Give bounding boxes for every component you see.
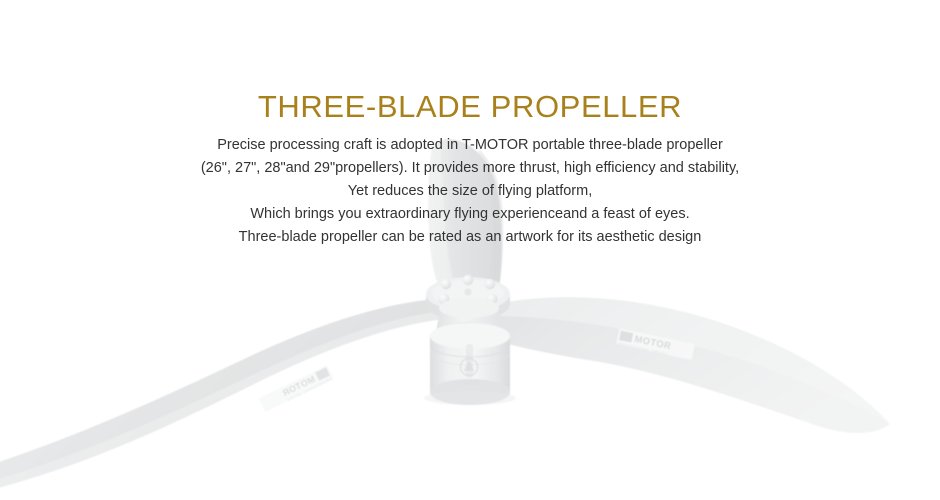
description-line-3: Yet reduces the size of flying platform, <box>0 180 940 203</box>
product-banner: MOTOR PROFESSIONAL DRIVES MOTOR PROFESSI… <box>0 0 940 500</box>
svg-text:MOTOR: MOTOR <box>281 374 317 399</box>
propeller-blade-left: MOTOR PROFESSIONAL DRIVES <box>0 298 455 492</box>
svg-text:PROFESSIONAL DRIVES: PROFESSIONAL DRIVES <box>618 342 668 356</box>
propeller-hub <box>426 275 510 321</box>
svg-text:MOTOR: MOTOR <box>633 334 672 352</box>
motor-can: T-MOTOR <box>430 323 510 405</box>
blade-right-brand-decal: MOTOR PROFESSIONAL DRIVES <box>616 328 695 361</box>
description-paragraph: Precise processing craft is adopted in T… <box>0 134 940 249</box>
description-line-2: (26", 27", 28"and 29"propellers). It pro… <box>0 157 940 180</box>
blade-left-brand-decal: MOTOR PROFESSIONAL DRIVES <box>259 365 335 413</box>
page-title: THREE-BLADE PROPELLER <box>0 88 940 126</box>
hub-bolt-group <box>439 275 498 310</box>
svg-text:T-MOTOR: T-MOTOR <box>458 380 481 385</box>
description-line-4: Which brings you extraordinary flying ex… <box>0 203 940 226</box>
svg-text:PROFESSIONAL DRIVES: PROFESSIONAL DRIVES <box>286 377 332 402</box>
motor-collar <box>436 298 502 342</box>
description-line-5: Three-blade propeller can be rated as an… <box>0 226 940 249</box>
motor-emblem-icon: T-MOTOR <box>458 359 481 386</box>
propeller-product-image: MOTOR PROFESSIONAL DRIVES MOTOR PROFESSI… <box>0 0 940 500</box>
description-line-1: Precise processing craft is adopted in T… <box>0 134 940 157</box>
propeller-blade-right: MOTOR PROFESSIONAL DRIVES <box>482 297 890 433</box>
